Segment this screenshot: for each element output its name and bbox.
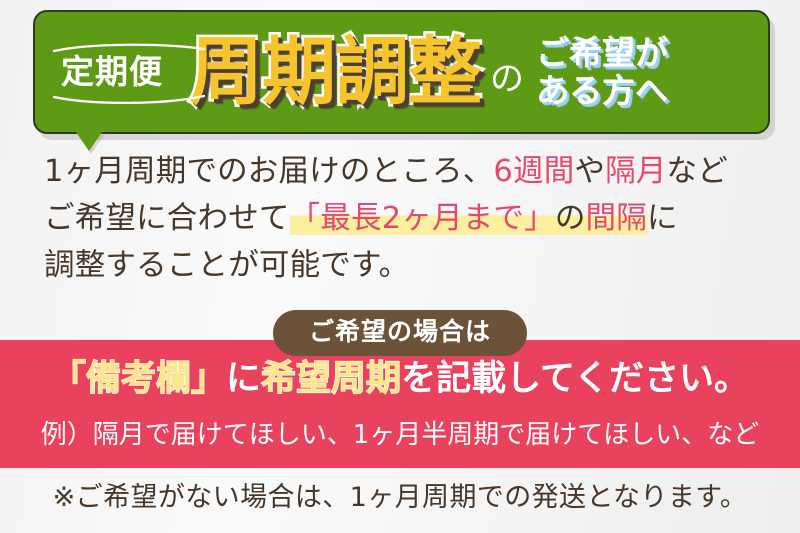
body-paragraph: 1ヶ月周期でのお届けのところ、6週間や隔月など ご希望に合わせて「最長2ヶ月まで… (44, 148, 774, 289)
callout-headline-part-b: に (226, 359, 261, 399)
wave-line-top-icon (53, 43, 205, 53)
body-line-1-part-a: 1ヶ月周期でのお届けのところ、 (44, 154, 493, 189)
header-wish-block: ご希望が ある方へ (536, 34, 668, 111)
body-line-3: 調整することが可能です。 (44, 242, 774, 289)
body-line-2: ご希望に合わせて「最長2ヶ月まで」の間隔に (44, 195, 774, 242)
footnote-text: ※ご希望がない場合は、1ヶ月周期での発送となります。 (0, 482, 800, 514)
body-line-2-part-c: の (555, 201, 586, 236)
body-line-1-part-c: や (574, 154, 605, 189)
body-line-2-part-e: に (647, 201, 678, 236)
body-line-2-part-a: ご希望に合わせて (44, 201, 290, 236)
callout-example-text: 例）隔月で届けてほしい、1ヶ月半周期で届けてほしい、など (0, 420, 800, 451)
subscription-cycle-adjustment-banner: 定期便 周期調整 の ご希望が ある方へ 1ヶ月周期でのお届けのところ、6週間や… (0, 0, 800, 533)
body-line-2-accent-interval: 間隔 (586, 201, 647, 236)
body-line-1-part-e: など (667, 154, 728, 189)
wave-line-bottom-icon (53, 94, 205, 104)
eyebrow-label: 定期便 (61, 52, 163, 91)
header-wish-line-1: ご希望が (536, 34, 668, 72)
callout-headline-desired-cycle: 希望周期 (261, 359, 401, 399)
callout-headline-remarks-field: 「備考欄」 (51, 359, 226, 399)
body-line-1-accent-bimonthly: 隔月 (605, 154, 666, 189)
callout-headline: 「備考欄」に希望周期を記載してください。 (0, 358, 800, 400)
callout-headline-part-d: を記載してください。 (401, 359, 749, 399)
header-title: 周期調整 (189, 35, 481, 109)
callout-badge: ご希望の場合は (273, 310, 527, 356)
header-speech-bubble: 定期便 周期調整 の ご希望が ある方へ (33, 10, 770, 134)
header-content-row: 定期便 周期調整 の ご希望が ある方へ (35, 12, 768, 132)
header-connector: の (490, 62, 524, 96)
body-line-1: 1ヶ月周期でのお届けのところ、6週間や隔月など (44, 148, 774, 195)
eyebrow-teikibin: 定期便 (57, 44, 167, 101)
body-line-2-highlight-maxperiod: 「最長2ヶ月まで」 (290, 201, 555, 236)
body-line-1-accent-weeks: 6週間 (493, 154, 574, 189)
header-wish-line-2: ある方へ (536, 72, 668, 110)
